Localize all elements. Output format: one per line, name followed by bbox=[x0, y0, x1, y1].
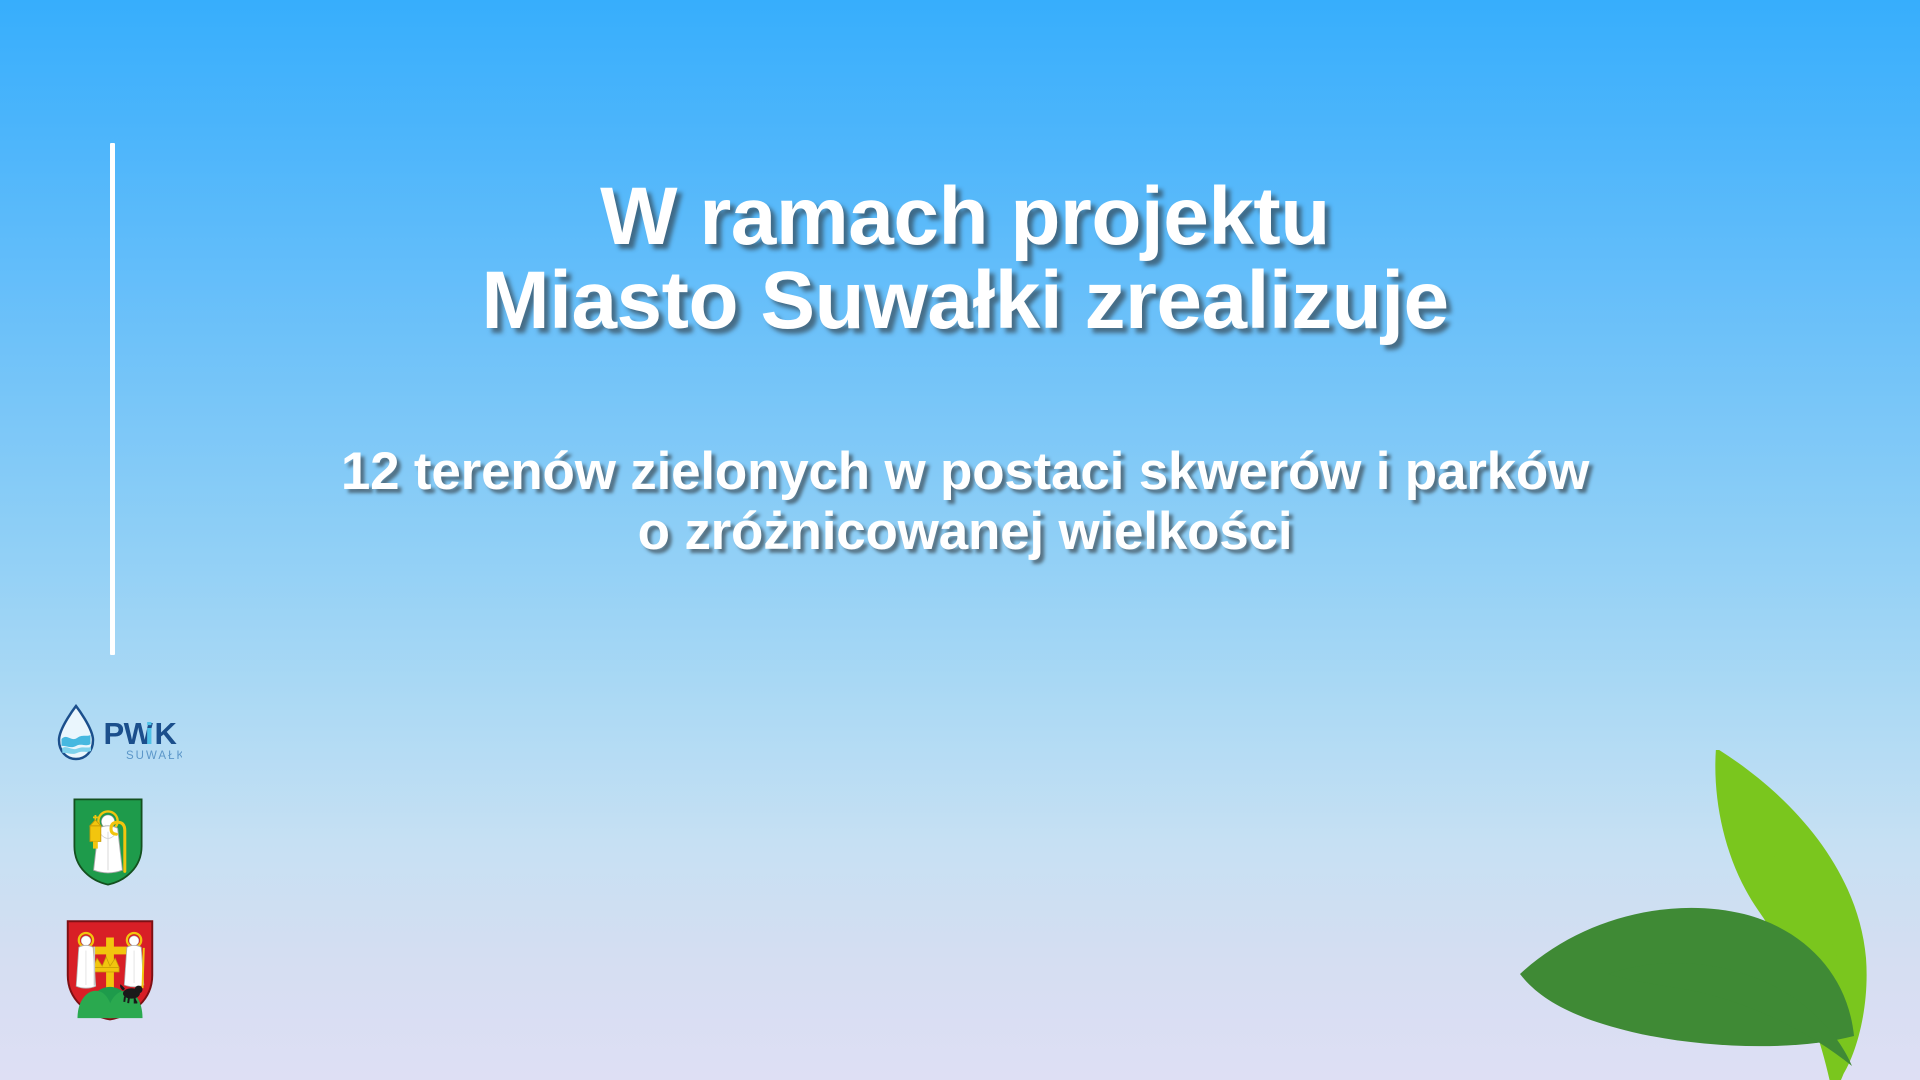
pwik-logo: PW i K SUWAŁKI bbox=[52, 702, 182, 764]
city-coat-of-arms bbox=[64, 918, 156, 1022]
pwik-wordmark-k: K bbox=[155, 716, 178, 751]
accent-vertical-rule bbox=[110, 143, 115, 655]
presentation-slide: W ramach projektu Miasto Suwałki zrealiz… bbox=[0, 0, 1920, 1080]
slide-text-block: W ramach projektu Miasto Suwałki zrealiz… bbox=[240, 175, 1690, 561]
pwik-subtext: SUWAŁKI bbox=[126, 750, 182, 762]
slide-subtitle: 12 terenów zielonych w postaci skwerów i… bbox=[240, 342, 1690, 561]
water-droplet-icon bbox=[59, 706, 93, 759]
county-coat-of-arms bbox=[72, 796, 144, 888]
pwik-accent-letter: i bbox=[145, 716, 154, 751]
green-leaves-decoration bbox=[1520, 750, 1920, 1080]
page-title: W ramach projektu Miasto Suwałki zrealiz… bbox=[240, 175, 1690, 342]
